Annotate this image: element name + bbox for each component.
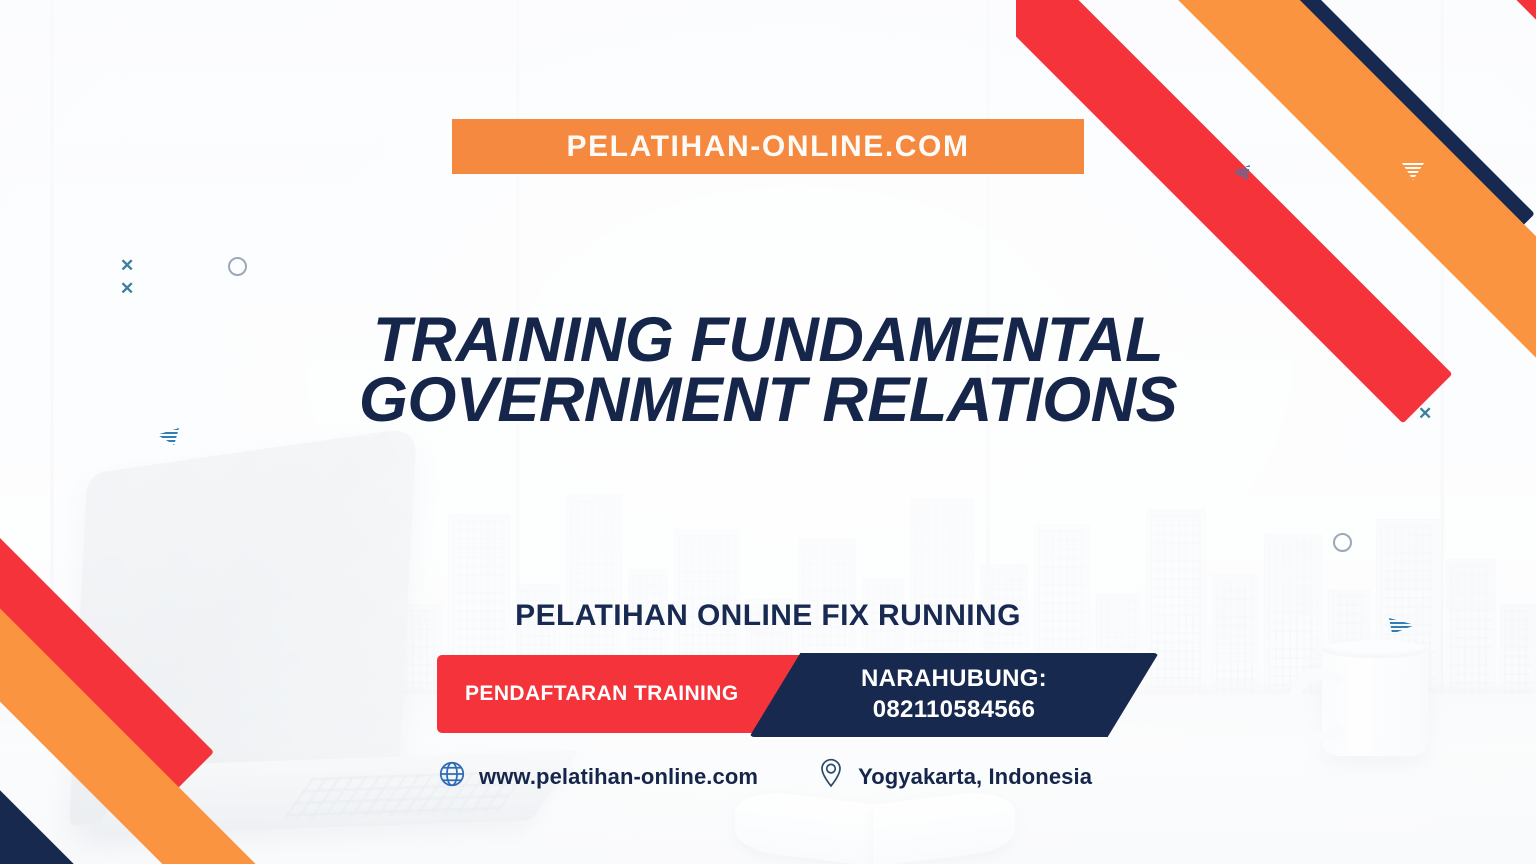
footer-contacts: www.pelatihan-online.com Yogyakarta, Ind… (437, 757, 1092, 796)
registration-banner[interactable]: PENDAFTARAN TRAINING (437, 655, 807, 733)
globe-icon (437, 759, 467, 794)
site-badge: PELATIHAN-ONLINE.COM (452, 119, 1084, 174)
promo-poster: ✕ ✕ ✕ PELATIHAN-ONLINE.COM TRAINING FUND… (0, 0, 1536, 864)
website-contact[interactable]: www.pelatihan-online.com (437, 759, 758, 794)
contact-label: NARAHUBUNG: (861, 664, 1047, 695)
website-label: www.pelatihan-online.com (479, 764, 758, 790)
subtitle: PELATIHAN ONLINE FIX RUNNING (0, 599, 1536, 633)
map-pin-icon (816, 757, 846, 796)
title-line-2: GOVERNMENT RELATIONS (0, 370, 1536, 430)
x-decoration: ✕ (120, 280, 134, 297)
location-contact: Yogyakarta, Indonesia (816, 757, 1092, 796)
location-label: Yogyakarta, Indonesia (858, 764, 1092, 790)
contact-phone: 082110584566 (873, 695, 1035, 726)
corner-stripes-top-right (1016, 0, 1536, 520)
circle-decoration (1333, 533, 1352, 552)
site-badge-label: PELATIHAN-ONLINE.COM (566, 130, 969, 164)
contact-banner[interactable]: NARAHUBUNG: 082110584566 (748, 651, 1160, 739)
registration-label: PENDAFTARAN TRAINING (465, 682, 739, 706)
x-decoration: ✕ (120, 257, 134, 274)
circle-decoration (228, 257, 247, 276)
page-title: TRAINING FUNDAMENTAL GOVERNMENT RELATION… (0, 310, 1536, 431)
